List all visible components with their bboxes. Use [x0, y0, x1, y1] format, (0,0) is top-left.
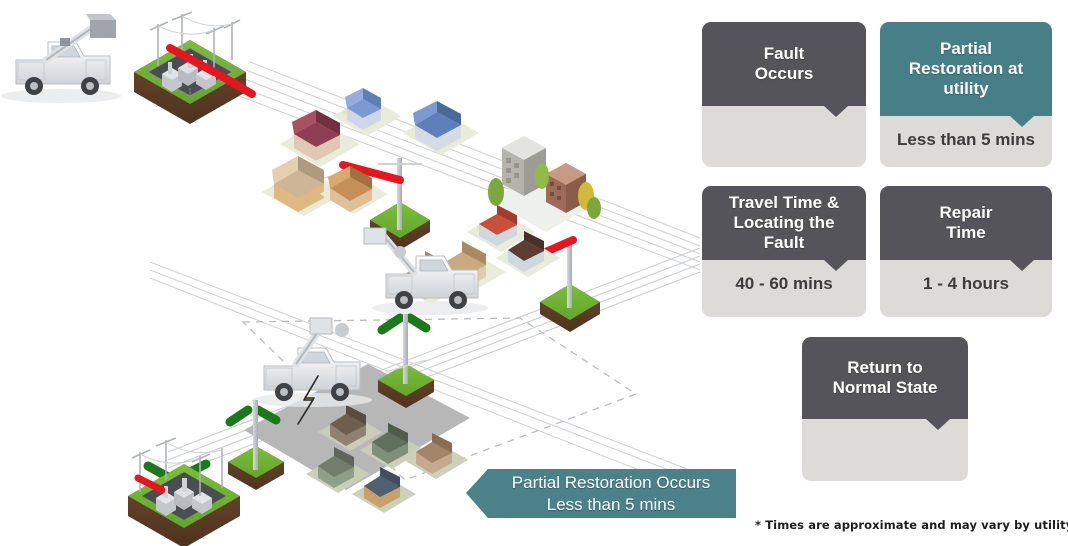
card-partial-restoration-utility-title-line2: Restoration at — [909, 59, 1023, 79]
card-repair-time-title-line1: Repair — [940, 203, 993, 223]
card-fault-occurs-header: Fault Occurs — [702, 22, 866, 106]
outage-restoration-illustration — [0, 0, 700, 546]
restored-marker-green — [382, 318, 400, 330]
card-fault-occurs[interactable]: Fault Occurs — [702, 22, 866, 167]
partial-restoration-banner-line2: Less than 5 mins — [466, 494, 736, 516]
card-partial-restoration-utility-header: Partial Restoration at utility — [880, 22, 1052, 116]
infographic-canvas: Fault Occurs Partial Restoration at util… — [0, 0, 1068, 546]
card-repair-time[interactable]: Repair Time 1 - 4 hours — [880, 186, 1052, 317]
restored-marker-green — [410, 318, 426, 328]
card-partial-restoration-utility-title-line3: utility — [909, 79, 1023, 99]
card-repair-time-title-line2: Time — [940, 223, 993, 243]
bucket-truck-top-left — [1, 14, 121, 103]
footnote-disclaimer: * Times are approximate and may vary by … — [755, 518, 1065, 532]
restored-marker-green — [230, 410, 248, 422]
card-return-to-normal-state-title-line1: Return to — [833, 358, 938, 378]
bucket-truck-middle — [364, 228, 488, 315]
card-repair-time-header: Repair Time — [880, 186, 1052, 260]
card-fault-occurs-title-line2: Occurs — [755, 64, 814, 84]
partial-restoration-banner: Partial Restoration Occurs Less than 5 m… — [466, 469, 736, 518]
substation-top — [134, 12, 246, 124]
card-return-to-normal-state-header: Return to Normal State — [802, 337, 968, 419]
restoration-timeline-cards: Fault Occurs Partial Restoration at util… — [690, 0, 1068, 546]
card-travel-time-locating-fault-title-line2: Locating the — [729, 213, 839, 233]
card-travel-time-locating-fault-header: Travel Time & Locating the Fault — [702, 186, 866, 260]
card-travel-time-locating-fault[interactable]: Travel Time & Locating the Fault 40 - 60… — [702, 186, 866, 317]
card-return-to-normal-state-title-line2: Normal State — [833, 378, 938, 398]
card-travel-time-locating-fault-title-line3: Fault — [729, 233, 839, 253]
card-return-to-normal-state[interactable]: Return to Normal State — [802, 337, 968, 481]
card-travel-time-locating-fault-title-line1: Travel Time & — [729, 193, 839, 213]
partial-restoration-banner-line1: Partial Restoration Occurs — [466, 472, 736, 494]
card-partial-restoration-utility[interactable]: Partial Restoration at utility Less than… — [880, 22, 1052, 167]
card-partial-restoration-utility-title-line1: Partial — [909, 39, 1023, 59]
card-fault-occurs-title-line1: Fault — [755, 44, 814, 64]
